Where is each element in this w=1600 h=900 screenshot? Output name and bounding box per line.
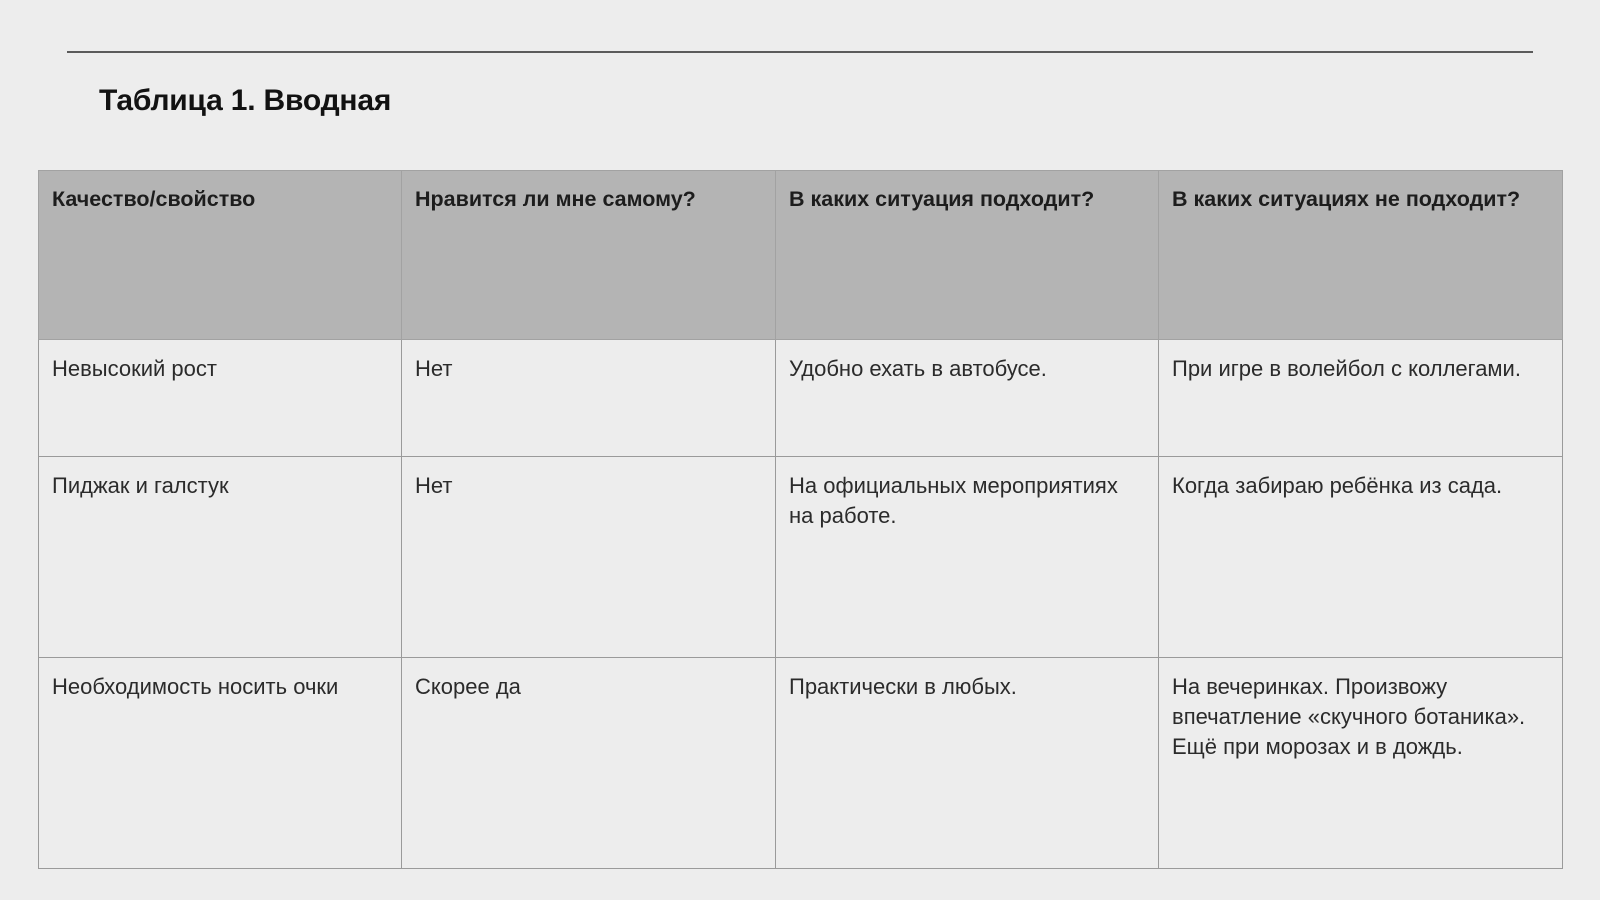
column-header-quality: Качество/свойство bbox=[39, 171, 402, 340]
table-row: Необходимость носить очки Скорее да Прак… bbox=[39, 658, 1563, 869]
cell-quality: Необходимость носить очки bbox=[39, 658, 402, 869]
cell-suitable: На официальных мероприятиях на работе. bbox=[776, 457, 1159, 658]
cell-suitable: Практически в любых. bbox=[776, 658, 1159, 869]
cell-unsuitable: На вечеринках. Произвожу впечатление «ск… bbox=[1159, 658, 1563, 869]
cell-suitable: Удобно ехать в автобусе. bbox=[776, 340, 1159, 457]
cell-likes-it: Скорее да bbox=[402, 658, 776, 869]
table-container: Качество/свойство Нравится ли мне самому… bbox=[38, 170, 1562, 869]
table-header-row: Качество/свойство Нравится ли мне самому… bbox=[39, 171, 1563, 340]
column-header-unsuitable-situations: В каких ситуациях не подходит? bbox=[1159, 171, 1563, 340]
cell-unsuitable: Когда забираю ребёнка из сада. bbox=[1159, 457, 1563, 658]
cell-unsuitable: При игре в волейбол с коллегами. bbox=[1159, 340, 1563, 457]
column-header-suitable-situations: В каких ситуация подходит? bbox=[776, 171, 1159, 340]
intro-table: Качество/свойство Нравится ли мне самому… bbox=[38, 170, 1563, 869]
cell-likes-it: Нет bbox=[402, 457, 776, 658]
cell-unsuitable-text: На вечеринках. Произвожу впечатление «ск… bbox=[1172, 672, 1564, 762]
cell-quality: Невысокий рост bbox=[39, 340, 402, 457]
table-row: Пиджак и галстук Нет На официальных меро… bbox=[39, 457, 1563, 658]
cell-likes-it: Нет bbox=[402, 340, 776, 457]
column-header-likes-it: Нравится ли мне самому? bbox=[402, 171, 776, 340]
page-title: Таблица 1. Вводная bbox=[99, 84, 391, 118]
table-body: Невысокий рост Нет Удобно ехать в автобу… bbox=[39, 340, 1563, 869]
header-divider-rule bbox=[67, 51, 1533, 53]
table-header: Качество/свойство Нравится ли мне самому… bbox=[39, 171, 1563, 340]
cell-quality: Пиджак и галстук bbox=[39, 457, 402, 658]
table-row: Невысокий рост Нет Удобно ехать в автобу… bbox=[39, 340, 1563, 457]
